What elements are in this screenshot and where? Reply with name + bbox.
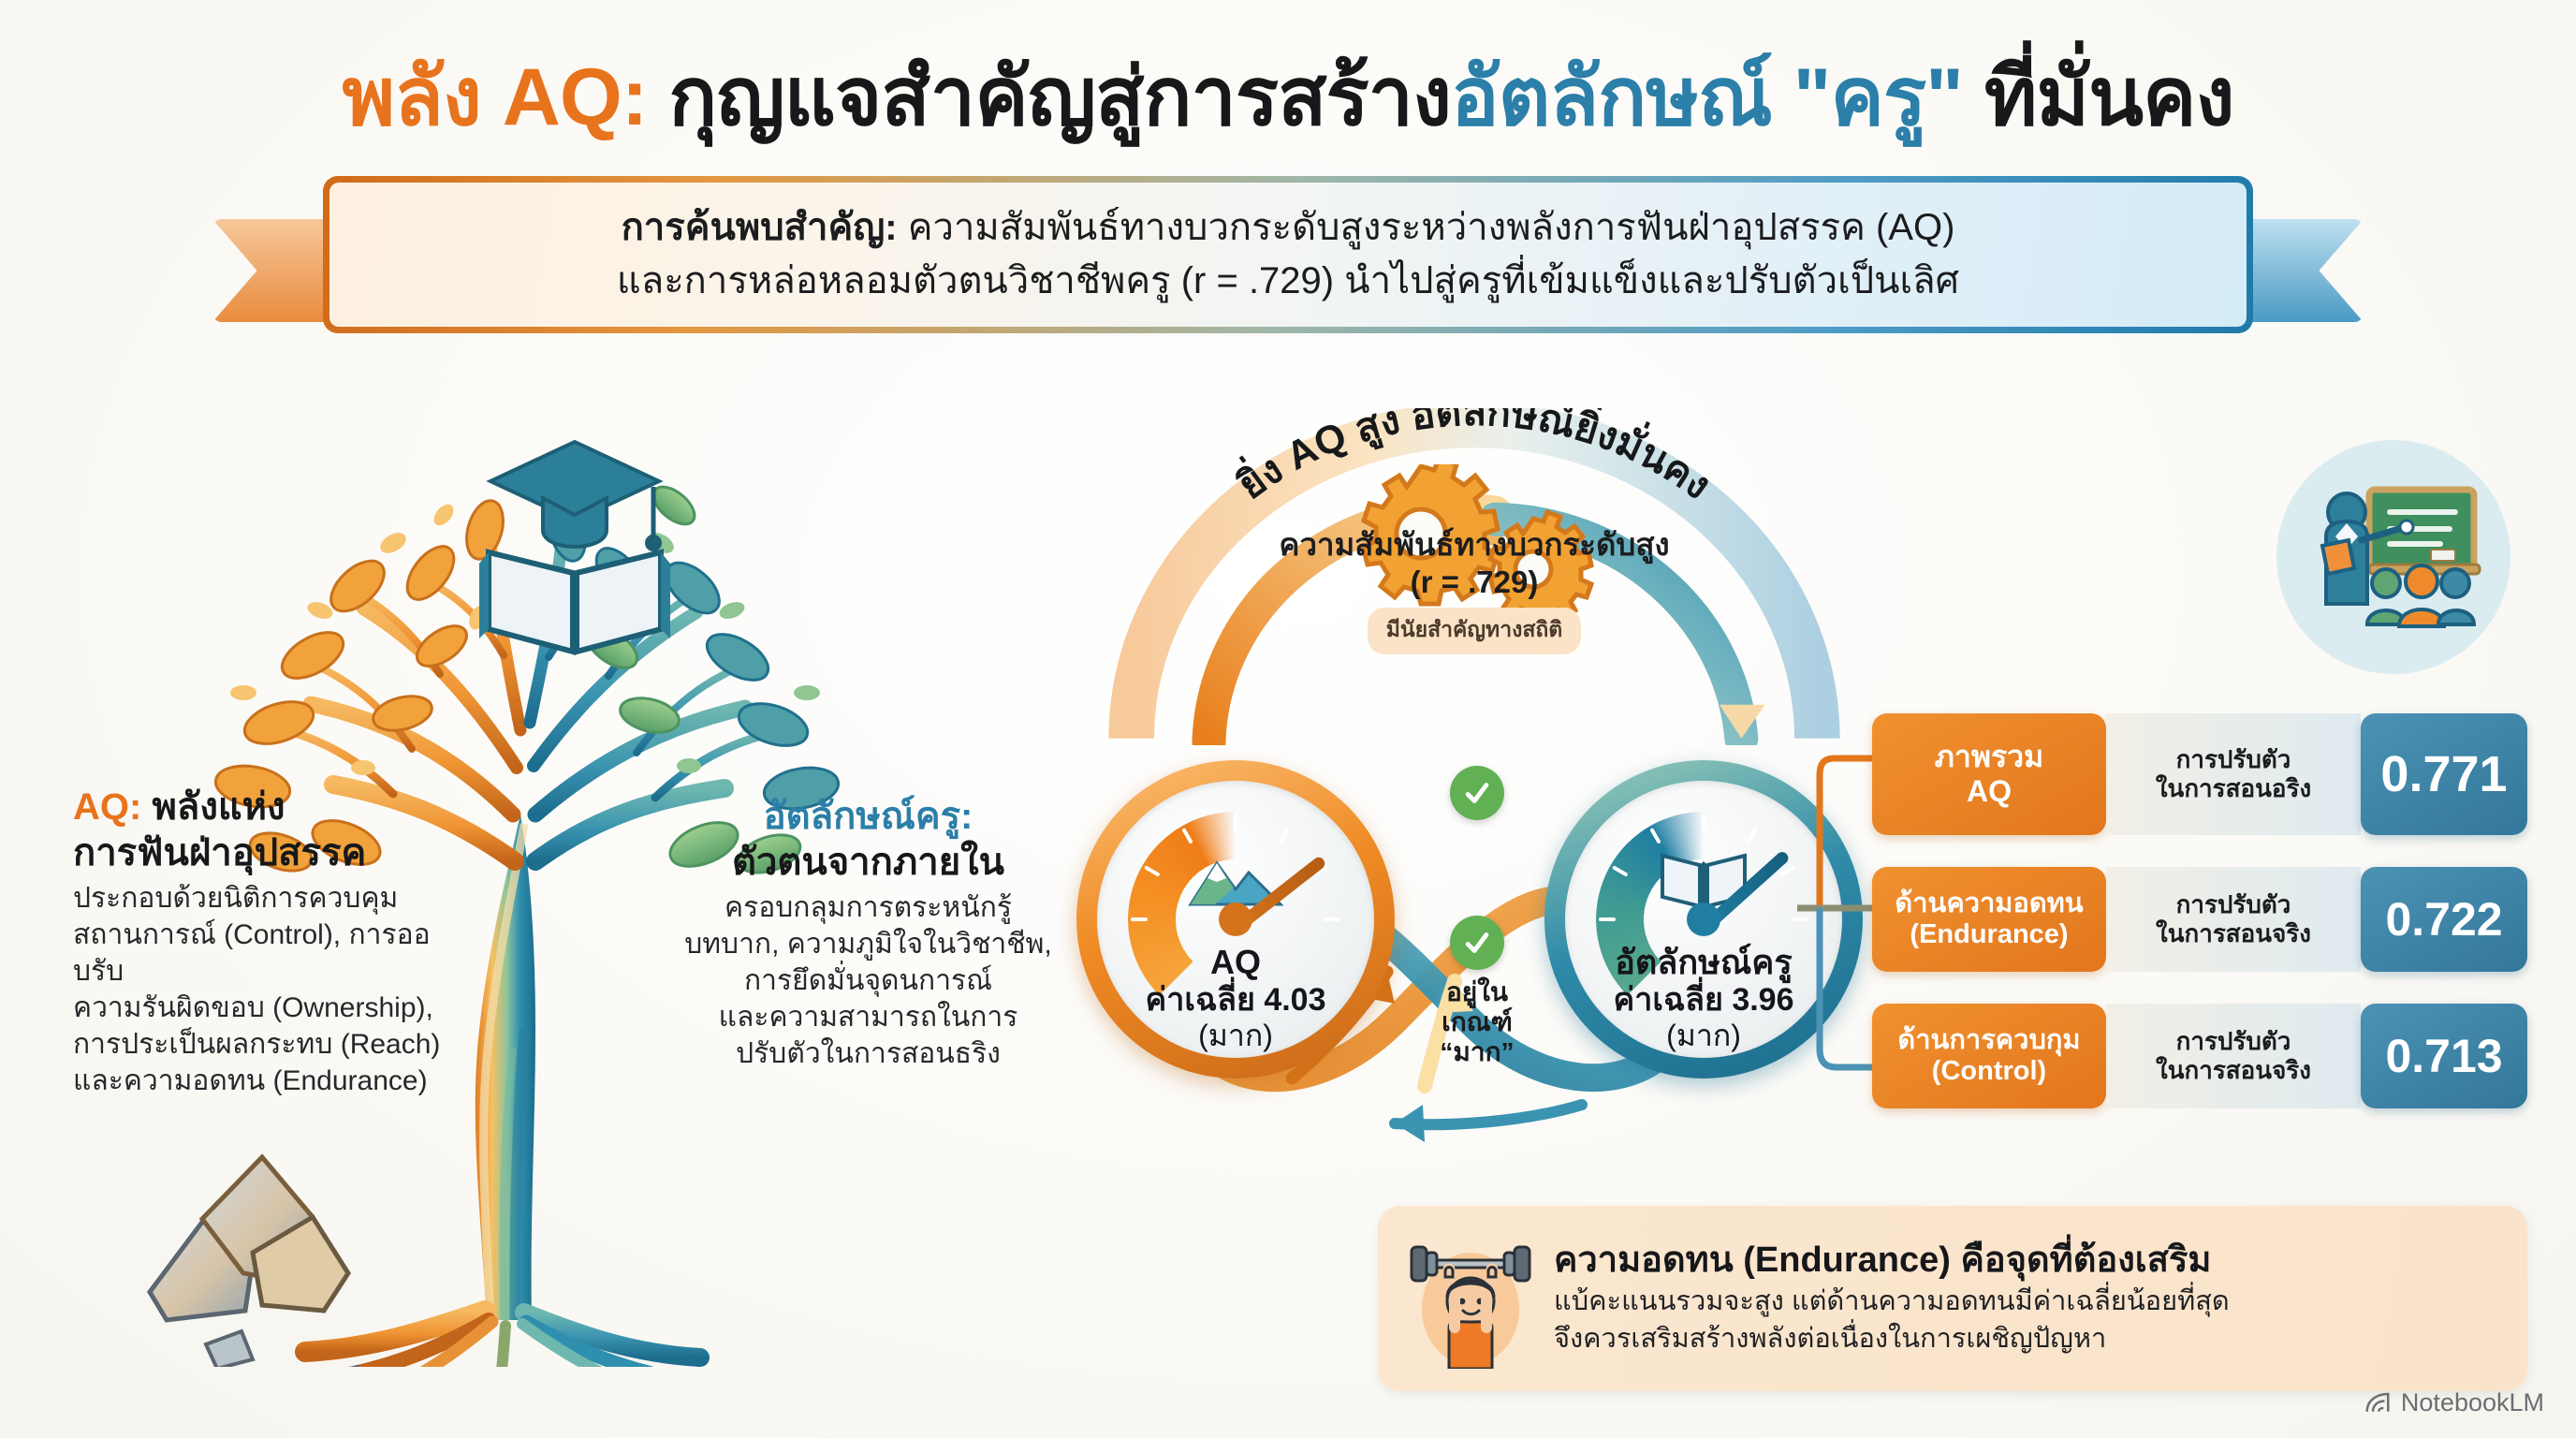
card-factor: ภาพรวม AQ — [1872, 713, 2106, 835]
criteria-caption-line2: “มาก” — [1435, 1037, 1519, 1067]
gauge-aq-name: AQ — [1076, 944, 1395, 981]
title-accent-identity: อัตลักษณ์ "ครู" — [1451, 52, 1984, 142]
card-target: การปรับตัว ในการสอนจริง — [2106, 867, 2361, 972]
identity-body-line: การยึดมั่นจุดนการณ์ — [683, 962, 1053, 999]
correlation-card[interactable]: ภาพรวม AQ การปรับตัว ในการสอนอริง 0.771 — [1872, 713, 2527, 835]
ribbon-frame: การค้นพบสำคัญ: ความสัมพันธ์ทางบวกระดับสู… — [323, 176, 2253, 333]
graduation-book-icon — [479, 442, 670, 652]
ribbon-line-1: การค้นพบสำคัญ: ความสัมพันธ์ทางบวกระดับสู… — [622, 201, 1955, 255]
aq-body-line: ประกอบด้วยนิติการควบคุม — [73, 880, 476, 917]
ribbon-line-2: และการหล่อหลอมตัวตนวิชาชีพครู (r = .729)… — [617, 255, 1959, 308]
card-value: 0.722 — [2361, 867, 2527, 972]
identity-body: ครอบกลุมการตระหนักรู้ บทบาก, ความภูมิใจใ… — [683, 889, 1053, 1072]
aq-body-line: สถานการณ์ (Control), การออบรับ — [73, 917, 476, 990]
card-factor-line2: (Endurance) — [1910, 919, 2068, 950]
check-glyph — [1461, 777, 1493, 809]
infographic-canvas: พลัง AQ: กุญแจสำคัญสู่การสร้างอัตลักษณ์ … — [0, 0, 2576, 1438]
title-end: ที่มั่นคง — [1984, 52, 2234, 142]
notebooklm-icon — [2364, 1389, 2392, 1417]
card-target-line1: การปรับตัว — [2176, 890, 2291, 918]
ribbon-line1-text: ความสัมพันธ์ทางบวกระดับสูงระหว่างพลังการ… — [898, 207, 1955, 248]
identity-body-line: ครอบกลุมการตระหนักรู้ — [683, 889, 1053, 926]
gauge-identity-hub — [1687, 902, 1720, 936]
identity-heading-accent: อัตลักษณ์ครู: — [764, 796, 973, 837]
identity-body-line: บทบาก, ความภูมิใจในวิชาชีพ, — [683, 926, 1053, 962]
ribbon-lead: การค้นพบสำคัญ: — [622, 207, 898, 248]
endurance-callout: ความอดทน (Endurance) คือจุดที่ต้องเสริม … — [1378, 1206, 2527, 1391]
aq-body: ประกอบด้วยนิติการควบคุม สถานการณ์ (Contr… — [73, 880, 476, 1099]
card-factor: ด้านความอดทน (Endurance) — [1872, 867, 2106, 972]
teacher-classroom-glyph — [2300, 463, 2487, 651]
weightlifter-glyph — [1402, 1228, 1539, 1369]
identity-body-line: ปรับตัวในการสอนธริง — [683, 1035, 1053, 1072]
gauge-aq: AQ ค่าเฉลี่ย 4.03 (มาก) — [1076, 760, 1395, 1078]
significance-badge: มีนัยสำคัญทางสถิติ — [1368, 608, 1582, 654]
card-factor-line1: ด้านความอดทน — [1895, 888, 2083, 919]
identity-body-line: และความสามารถในการ — [683, 999, 1053, 1035]
criteria-caption-line1: อยู่ในเกณฑ์ — [1435, 977, 1519, 1037]
title-accent-aq: พลัง AQ: — [342, 52, 668, 142]
card-value: 0.771 — [2361, 713, 2527, 835]
endurance-text: ความอดทน (Endurance) คือจุดที่ต้องเสริม … — [1554, 1240, 2230, 1357]
relation-line-1: ความสัมพันธ์ทางบวกระดับสูง — [1184, 526, 1764, 564]
aq-body-line: ความรันผิดขอบ (Ownership), — [73, 990, 476, 1026]
criteria-caption: อยู่ในเกณฑ์ “มาก” — [1435, 977, 1519, 1068]
watermark-label: NotebookLM — [2401, 1388, 2544, 1417]
title-mid: กุญแจสำคัญสู่การสร้าง — [668, 52, 1451, 142]
rock-obstacles — [150, 1157, 369, 1367]
check-glyph — [1461, 927, 1493, 959]
correlation-card[interactable]: ด้านความอดทน (Endurance) การปรับตัว ในกา… — [1872, 867, 2527, 972]
aq-body-line: การประเป็นผลกระทบ (Reach) — [73, 1026, 476, 1063]
card-target-line2: ในการสอนจริง — [2156, 1056, 2311, 1084]
correlation-cards: ภาพรวม AQ การปรับตัว ในการสอนอริง 0.771 … — [1872, 713, 2527, 1140]
gauge-aq-hub — [1219, 902, 1252, 936]
aq-heading: AQ: พลังแห่ง การฟันฝ่าอุปสรรค — [73, 785, 476, 876]
criteria-checks: อยู่ในเกณฑ์ “มาก” — [1435, 766, 1519, 1068]
gauge-aq-qualifier: (มาก) — [1076, 1019, 1395, 1053]
bracket-connector — [1797, 740, 1878, 1095]
aq-body-line: และความอดทน (Endurance) — [73, 1063, 476, 1099]
card-target: การปรับตัว ในการสอนอริง — [2106, 713, 2361, 835]
identity-heading: อัตลักษณ์ครู: ตัวตนจากภายใน — [683, 794, 1053, 886]
relation-caption: ความสัมพันธ์ทางบวกระดับสูง (r = .729) มี… — [1184, 526, 1764, 654]
page-title: พลัง AQ: กุญแจสำคัญสู่การสร้างอัตลักษณ์ … — [0, 32, 2576, 160]
endurance-heading: ความอดทน (Endurance) คือจุดที่ต้องเสริม — [1554, 1240, 2230, 1282]
gauge-aq-labels: AQ ค่าเฉลี่ย 4.03 (มาก) — [1076, 944, 1395, 1053]
card-target-line2: ในการสอนอริง — [2156, 774, 2311, 802]
card-factor-line1: ด้านการควบกุม — [1897, 1025, 2080, 1056]
key-finding-ribbon: การค้นพบสำคัญ: ความสัมพันธ์ทางบวกระดับสู… — [323, 176, 2253, 333]
check-icon — [1450, 766, 1504, 820]
aq-heading-rest: พลังแห่ง — [152, 786, 285, 828]
card-target-line1: การปรับตัว — [2176, 1027, 2291, 1055]
relation-line-2: (r = .729) — [1184, 564, 1764, 601]
teacher-classroom-icon — [2276, 440, 2510, 674]
endurance-body-line1: แบ้คะแนนรวมจะสูง แต่ด้านความอดทนมีค่าเฉล… — [1554, 1284, 2230, 1320]
weightlifter-icon — [1402, 1228, 1539, 1369]
gauge-aq-average: ค่าเฉลี่ย 4.03 — [1076, 981, 1395, 1020]
aq-heading-line2: การฟันฝ่าอุปสรรค — [73, 832, 366, 873]
endurance-body-line2: จึงควรเสริมสร้างพลังต่อเนื่องในการเผชิญป… — [1554, 1322, 2230, 1357]
card-target-line2: ในการสอนจริง — [2156, 919, 2311, 947]
identity-heading-line2: ตัวตนจากภายใน — [732, 842, 1004, 883]
card-factor: ด้านการควบกุม (Control) — [1872, 1004, 2106, 1108]
center-loop-diagram: ยิ่ง AQ สูง อัตลักษณ์ยิ่งมั่นคง ความสัมพ… — [1058, 403, 1891, 1217]
card-value: 0.713 — [2361, 1004, 2527, 1108]
left-text-block-identity: อัตลักษณ์ครู: ตัวตนจากภายใน ครอบกลุมการต… — [683, 794, 1053, 1072]
card-target-line1: การปรับตัว — [2176, 745, 2291, 773]
watermark: NotebookLM — [2364, 1388, 2544, 1417]
ribbon-content: การค้นพบสำคัญ: ความสัมพันธ์ทางบวกระดับสู… — [329, 183, 2247, 327]
card-factor-line2: AQ — [1967, 774, 2012, 809]
card-factor-line1: ภาพรวม — [1935, 740, 2043, 774]
check-icon — [1450, 916, 1504, 970]
card-factor-line2: (Control) — [1932, 1056, 2046, 1087]
correlation-card[interactable]: ด้านการควบกุม (Control) การปรับตัว ในการ… — [1872, 1004, 2527, 1108]
left-text-block-aq: AQ: พลังแห่ง การฟันฝ่าอุปสรรค ประกอบด้วย… — [73, 785, 476, 1099]
card-target: การปรับตัว ในการสอนจริง — [2106, 1004, 2361, 1108]
aq-heading-accent: AQ: — [73, 786, 152, 828]
